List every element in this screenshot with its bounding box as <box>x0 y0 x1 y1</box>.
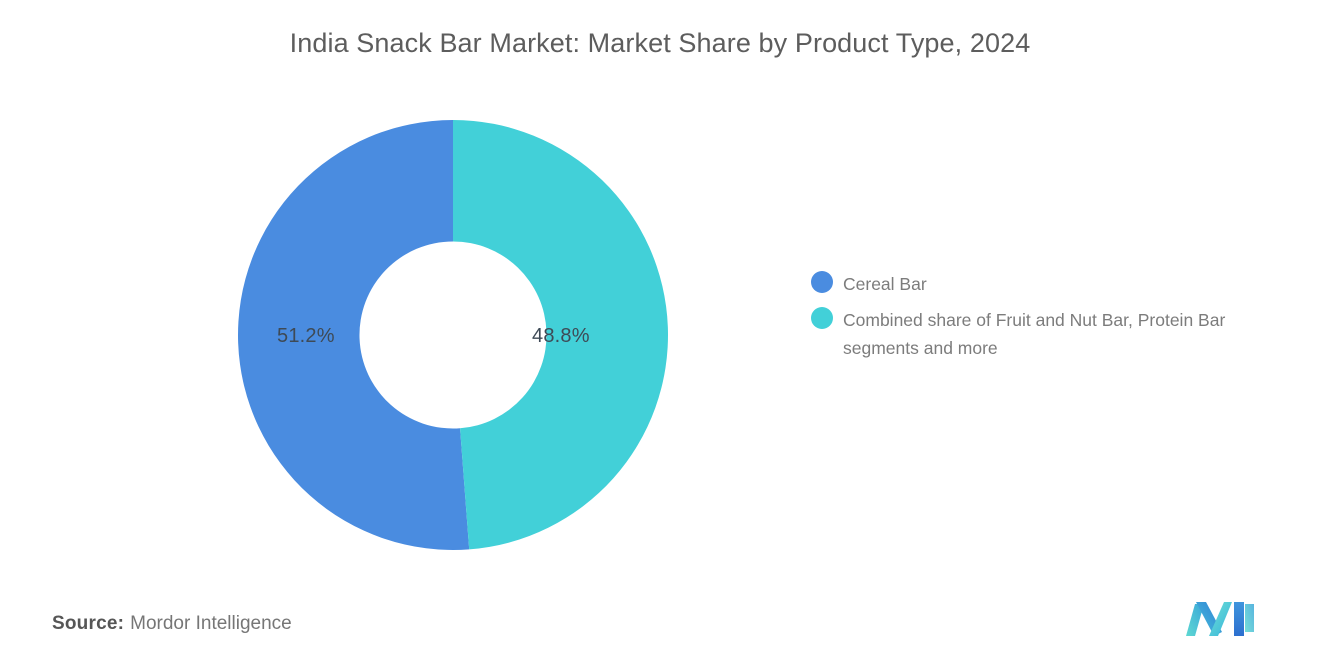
legend-swatch-icon-cereal-bar <box>811 271 833 293</box>
legend-swatch-icon-combined-share <box>811 307 833 329</box>
legend-item-combined-share[interactable]: Combined share of Fruit and Nut Bar, Pro… <box>811 306 1281 362</box>
legend-label-combined-share: Combined share of Fruit and Nut Bar, Pro… <box>843 306 1243 362</box>
donut-slice-cereal-bar[interactable] <box>238 120 469 550</box>
legend-label-cereal-bar: Cereal Bar <box>843 270 927 298</box>
source-label: Source: <box>52 613 124 634</box>
legend-item-cereal-bar[interactable]: Cereal Bar <box>811 270 1281 298</box>
donut-slice-label-cereal-bar: 51.2% <box>277 325 335 348</box>
donut-chart: 51.2% 48.8% <box>237 119 669 551</box>
chart-title: India Snack Bar Market: Market Share by … <box>0 28 1320 59</box>
logo-icon <box>1184 598 1256 638</box>
mordor-intelligence-logo <box>1184 598 1256 638</box>
donut-slice-label-combined-share: 48.8% <box>532 325 590 348</box>
chart-legend: Cereal Bar Combined share of Fruit and N… <box>811 270 1281 370</box>
source-line: Source:Mordor Intelligence <box>52 613 292 635</box>
source-value: Mordor Intelligence <box>130 613 292 634</box>
